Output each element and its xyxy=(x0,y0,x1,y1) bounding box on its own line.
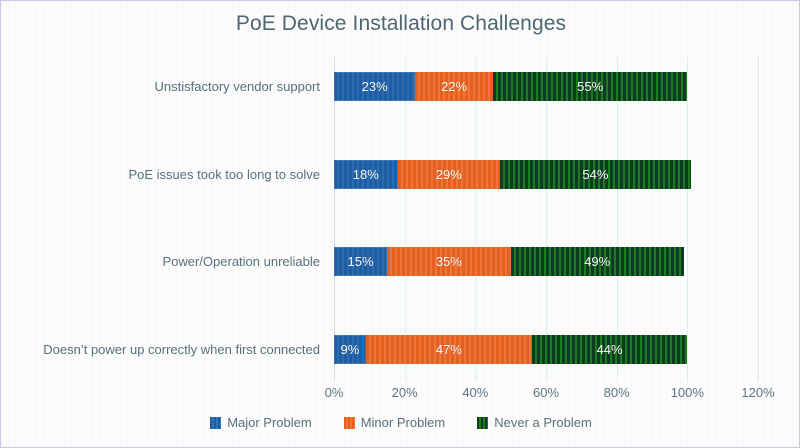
bar-value-label: 44% xyxy=(597,342,623,357)
bar-segment-minor: 22% xyxy=(415,72,493,101)
stacked-bar: 9%47%44% xyxy=(334,335,687,364)
bar-segment-major: 23% xyxy=(334,72,415,101)
bar-segment-major: 15% xyxy=(334,247,387,276)
bar-segment-major: 9% xyxy=(334,335,366,364)
bar-segment-minor: 29% xyxy=(398,160,500,189)
gridline-0 xyxy=(334,57,335,381)
x-tick-label: 40% xyxy=(462,385,488,400)
legend-item[interactable]: Minor Problem xyxy=(344,415,446,430)
bar-segment-minor: 47% xyxy=(366,335,532,364)
bar-row: 18%29%54% xyxy=(334,160,758,189)
legend-swatch-icon xyxy=(477,417,488,429)
bar-segment-minor: 35% xyxy=(387,247,511,276)
bar-value-label: 9% xyxy=(341,342,360,357)
gridline-40 xyxy=(475,57,476,381)
stacked-bar: 23%22%55% xyxy=(334,72,687,101)
x-tick-label: 80% xyxy=(604,385,630,400)
bar-segment-never: 54% xyxy=(500,160,691,189)
x-tick-label: 120% xyxy=(741,385,774,400)
legend-label: Minor Problem xyxy=(361,415,446,430)
legend-swatch-icon xyxy=(210,417,221,429)
bar-value-label: 54% xyxy=(582,167,608,182)
bar-value-label: 35% xyxy=(436,254,462,269)
legend-item[interactable]: Major Problem xyxy=(210,415,312,430)
bar-value-label: 22% xyxy=(441,79,467,94)
bar-segment-major: 18% xyxy=(334,160,398,189)
category-label: PoE issues took too long to solve xyxy=(128,167,320,183)
bar-row: 9%47%44% xyxy=(334,335,758,364)
bar-row: 15%35%49% xyxy=(334,247,758,276)
x-tick-label: 60% xyxy=(533,385,559,400)
bar-value-label: 23% xyxy=(362,79,388,94)
legend-label: Major Problem xyxy=(227,415,312,430)
category-label: Power/Operation unreliable xyxy=(162,254,320,270)
legend-swatch-icon xyxy=(344,417,355,429)
bar-value-label: 18% xyxy=(353,167,379,182)
bar-value-label: 55% xyxy=(577,79,603,94)
x-tick-label: 20% xyxy=(392,385,418,400)
gridline-80 xyxy=(617,57,618,381)
chart-container: PoE Device Installation Challenges 23%22… xyxy=(0,0,800,448)
plot-area: 23%22%55%18%29%54%15%35%49%9%47%44% xyxy=(334,57,758,381)
chart-title: PoE Device Installation Challenges xyxy=(1,12,800,36)
bar-value-label: 49% xyxy=(584,254,610,269)
bar-row: 23%22%55% xyxy=(334,72,758,101)
chart-legend: Major ProblemMinor ProblemNever a Proble… xyxy=(1,415,800,430)
bar-value-label: 15% xyxy=(347,254,373,269)
gridline-120 xyxy=(758,57,759,381)
legend-item[interactable]: Never a Problem xyxy=(477,415,592,430)
gridline-20 xyxy=(405,57,406,381)
bar-segment-never: 44% xyxy=(532,335,687,364)
stacked-bar: 15%35%49% xyxy=(334,247,684,276)
category-label: Doesn’t power up correctly when first co… xyxy=(43,342,320,358)
bar-value-label: 29% xyxy=(436,167,462,182)
legend-label: Never a Problem xyxy=(494,415,592,430)
bar-segment-never: 49% xyxy=(511,247,684,276)
gridline-100 xyxy=(687,57,688,381)
bar-value-label: 47% xyxy=(436,342,462,357)
x-tick-label: 0% xyxy=(325,385,344,400)
gridline-60 xyxy=(546,57,547,381)
bar-segment-never: 55% xyxy=(493,72,687,101)
stacked-bar: 18%29%54% xyxy=(334,160,691,189)
x-tick-label: 100% xyxy=(671,385,704,400)
category-label: Unstisfactory vendor support xyxy=(155,79,320,95)
